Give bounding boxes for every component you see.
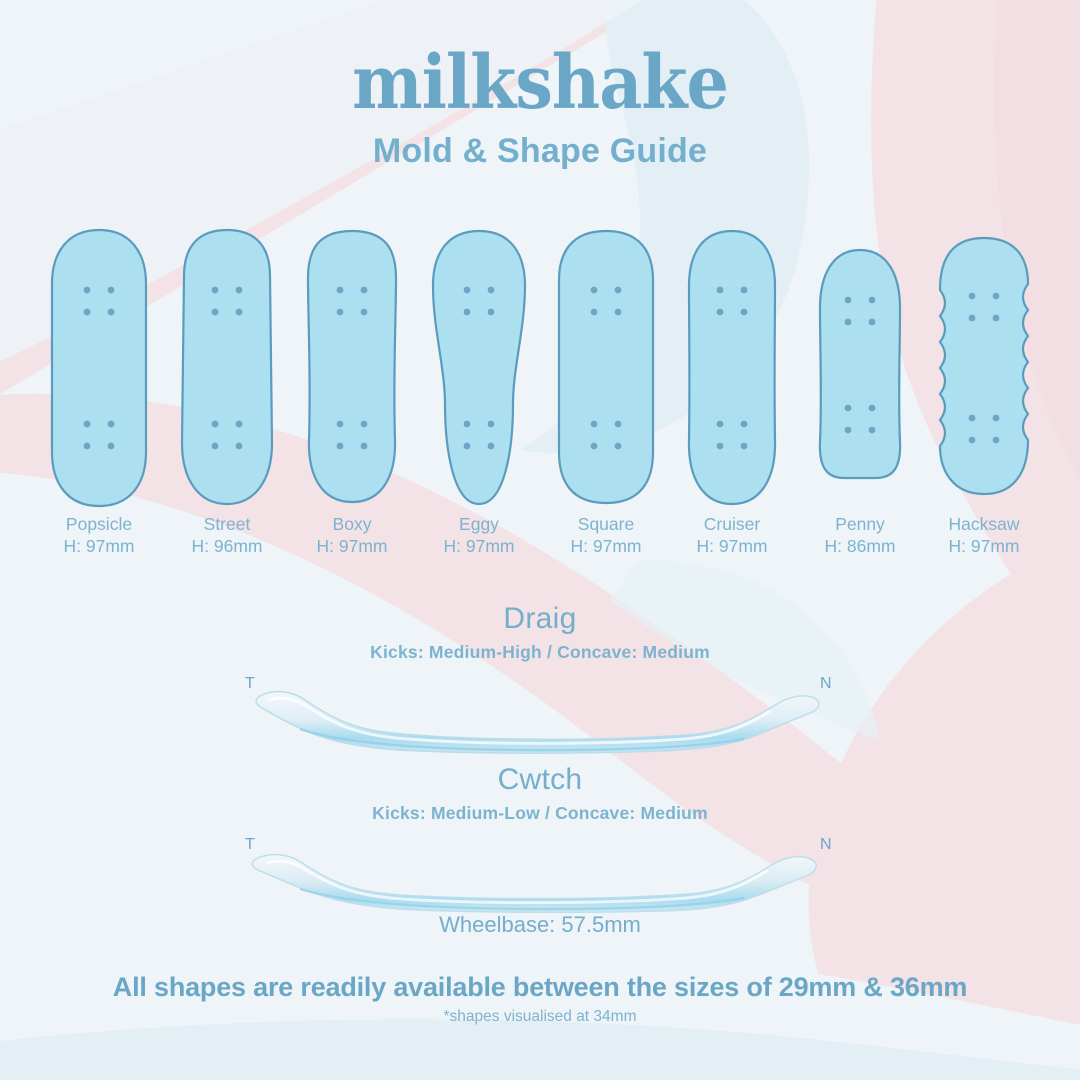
deck-silhouette-popsicle [29, 228, 169, 508]
profile-specs: Kicks: Medium-Low / Concave: Medium [0, 803, 1080, 824]
profile-art-cwtch: T N [0, 828, 1080, 918]
profile-name: Cwtch [0, 763, 1080, 797]
shape-card-street[interactable]: Street H: 96mm [157, 228, 297, 558]
profile-draig: Draig Kicks: Medium-High / Concave: Medi… [0, 602, 1080, 757]
availability-text: All shapes are readily available between… [0, 972, 1080, 1003]
profile-name: Draig [0, 602, 1080, 636]
shape-height: H: 97mm [409, 536, 549, 558]
shape-name: Boxy [282, 514, 422, 536]
shape-height: H: 97mm [914, 536, 1054, 558]
page-subtitle: Mold & Shape Guide [0, 132, 1080, 171]
profile-specs: Kicks: Medium-High / Concave: Medium [0, 642, 1080, 663]
deck-silhouette-street [157, 228, 297, 508]
deck-silhouette-hacksaw [914, 228, 1054, 508]
deck-profile-cwtch [0, 828, 1080, 918]
shape-row: Popsicle H: 97mm Street H: 96mm [0, 228, 1080, 568]
tail-marker: T [245, 836, 255, 854]
deck-silhouette-eggy [409, 228, 549, 508]
nose-marker: N [820, 675, 832, 693]
shape-name: Square [536, 514, 676, 536]
shape-name: Hacksaw [914, 514, 1054, 536]
shape-name: Eggy [409, 514, 549, 536]
wheelbase-text: Wheelbase: 57.5mm [0, 912, 1080, 938]
shape-card-cruiser[interactable]: Cruiser H: 97mm [662, 228, 802, 558]
shape-card-boxy[interactable]: Boxy H: 97mm [282, 228, 422, 558]
shape-height: H: 97mm [29, 536, 169, 558]
deck-silhouette-cruiser [662, 228, 802, 508]
profile-art-draig: T N [0, 667, 1080, 757]
profile-cwtch: Cwtch Kicks: Medium-Low / Concave: Mediu… [0, 763, 1080, 918]
shape-card-popsicle[interactable]: Popsicle H: 97mm [29, 228, 169, 558]
nose-marker: N [820, 836, 832, 854]
shape-name: Street [157, 514, 297, 536]
shape-name: Penny [790, 514, 930, 536]
shape-name: Cruiser [662, 514, 802, 536]
shape-height: H: 97mm [662, 536, 802, 558]
deck-silhouette-boxy [282, 228, 422, 508]
shape-card-penny[interactable]: Penny H: 86mm [790, 228, 930, 558]
deck-silhouette-penny [790, 228, 930, 508]
shape-height: H: 97mm [536, 536, 676, 558]
shape-name: Popsicle [29, 514, 169, 536]
shape-card-square[interactable]: Square H: 97mm [536, 228, 676, 558]
page-title: milkshake [0, 46, 1080, 120]
infographic-canvas: milkshake Mold & Shape Guide Popsicle H:… [0, 0, 1080, 1080]
header: milkshake Mold & Shape Guide [0, 46, 1080, 171]
shape-card-eggy[interactable]: Eggy H: 97mm [409, 228, 549, 558]
tail-marker: T [245, 675, 255, 693]
deck-silhouette-square [536, 228, 676, 508]
shape-height: H: 86mm [790, 536, 930, 558]
deck-profile-draig [0, 667, 1080, 757]
shape-height: H: 97mm [282, 536, 422, 558]
shape-card-hacksaw[interactable]: Hacksaw H: 97mm [914, 228, 1054, 558]
shape-height: H: 96mm [157, 536, 297, 558]
visualised-note: *shapes visualised at 34mm [0, 1008, 1080, 1026]
